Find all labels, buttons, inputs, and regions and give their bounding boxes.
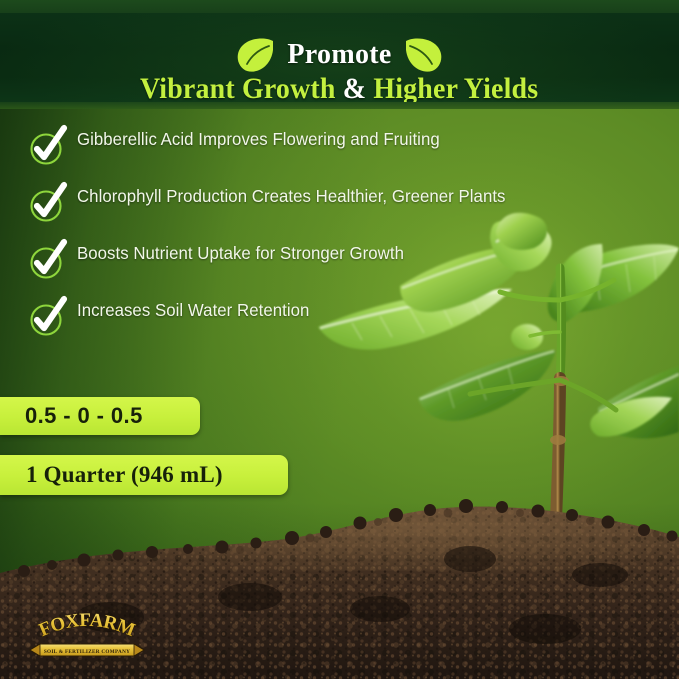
check-circle-icon bbox=[25, 180, 71, 222]
benefits-list: Gibberellic Acid Improves Flowering and … bbox=[0, 118, 679, 346]
list-item: Increases Soil Water Retention bbox=[0, 289, 679, 346]
list-item-label: Boosts Nutrient Uptake for Stronger Grow… bbox=[77, 241, 404, 265]
check-circle-icon bbox=[25, 237, 71, 279]
logo-tagline: SOIL & FERTILIZER COMPANY bbox=[44, 649, 130, 655]
list-item-label: Chlorophyll Production Creates Healthier… bbox=[77, 184, 506, 208]
check-circle-icon bbox=[25, 123, 71, 165]
list-item: Boosts Nutrient Uptake for Stronger Grow… bbox=[0, 232, 679, 289]
svg-text:FOXFARM: FOXFARM bbox=[36, 612, 138, 641]
spec-badges: 0.5 - 0 - 0.5 1 Quarter (946 mL) bbox=[0, 397, 288, 495]
npk-badge: 0.5 - 0 - 0.5 bbox=[0, 397, 200, 435]
list-item-label: Increases Soil Water Retention bbox=[77, 298, 309, 322]
list-item: Gibberellic Acid Improves Flowering and … bbox=[0, 118, 679, 175]
product-infographic: Promote Vibrant Growth & Higher Yields G… bbox=[0, 0, 679, 679]
list-item-label: Gibberellic Acid Improves Flowering and … bbox=[77, 127, 440, 151]
check-circle-icon bbox=[25, 294, 71, 336]
size-badge: 1 Quarter (946 mL) bbox=[0, 455, 288, 495]
foxfarm-logo: FOXFARM SOIL & FERTILIZER COMPANY bbox=[26, 612, 148, 660]
list-item: Chlorophyll Production Creates Healthier… bbox=[0, 175, 679, 232]
logo-brand: FOXFARM bbox=[36, 612, 138, 641]
